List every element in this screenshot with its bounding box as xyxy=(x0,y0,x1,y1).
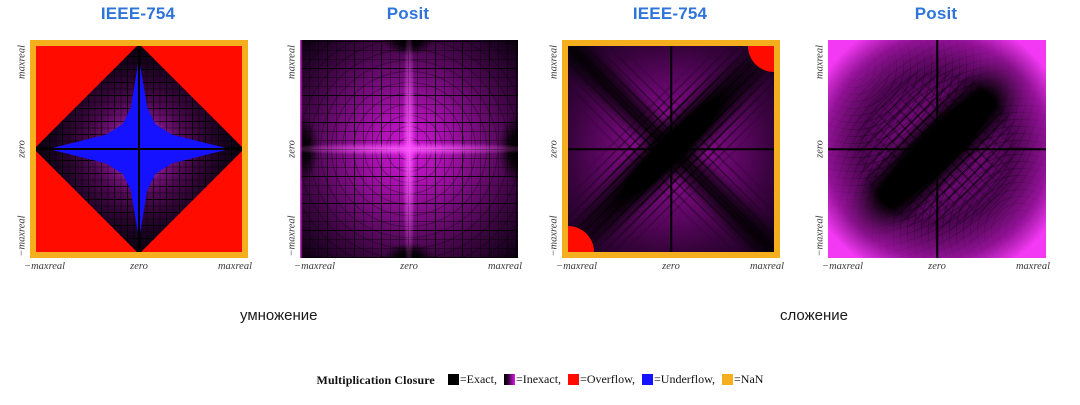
x-axis-labels: −maxreal zero maxreal xyxy=(30,261,248,277)
y-axis-labels: maxreal zero −maxreal xyxy=(14,40,30,258)
legend-label: =NaN xyxy=(734,372,763,387)
legend-item: =Underflow, xyxy=(642,372,715,387)
panel-posit-addition: Posit maxreal zero −maxreal −maxreal zer… xyxy=(806,0,1066,285)
x-tick-zero: zero xyxy=(662,261,680,272)
y-tick-maxreal: maxreal xyxy=(815,45,826,79)
x-tick-maxreal: maxreal xyxy=(1016,261,1050,272)
exact-axis-horizontal xyxy=(36,148,242,150)
y-tick-zero: zero xyxy=(549,140,560,158)
x-tick-negmaxreal: −maxreal xyxy=(556,261,597,272)
y-tick-zero: zero xyxy=(815,140,826,158)
legend-swatch-icon xyxy=(642,374,653,385)
plot-area[interactable] xyxy=(300,40,518,258)
x-tick-negmaxreal: −maxreal xyxy=(24,261,65,272)
legend-swatch-icon xyxy=(568,374,579,385)
y-axis-labels: maxreal zero −maxreal xyxy=(546,40,562,258)
x-tick-negmaxreal: −maxreal xyxy=(294,261,335,272)
plot-canvas xyxy=(300,40,518,258)
panel-title: Posit xyxy=(806,4,1066,24)
y-tick-maxreal: maxreal xyxy=(17,45,28,79)
x-tick-maxreal: maxreal xyxy=(218,261,252,272)
legend-items: =Exact,=Inexact,=Overflow,=Underflow,=Na… xyxy=(448,372,764,389)
y-tick-maxreal: maxreal xyxy=(287,45,298,79)
panel-title: Posit xyxy=(278,4,538,24)
plot-area[interactable] xyxy=(562,40,780,258)
legend-title: Multiplication Closure xyxy=(317,373,435,388)
y-axis-labels: maxreal zero −maxreal xyxy=(284,40,300,258)
legend-swatch-icon xyxy=(722,374,733,385)
x-tick-negmaxreal: −maxreal xyxy=(822,261,863,272)
legend-item: =Exact, xyxy=(448,372,497,387)
x-tick-zero: zero xyxy=(928,261,946,272)
closure-plot-row: IEEE-754 maxreal zero −maxreal −maxreal … xyxy=(0,0,1080,285)
x-axis-labels: −maxreal zero maxreal xyxy=(562,261,780,277)
panel-ieee754-multiplication: IEEE-754 maxreal zero −maxreal −maxreal … xyxy=(8,0,268,285)
plot-canvas xyxy=(568,46,774,252)
plot-area[interactable] xyxy=(828,40,1046,258)
y-tick-negmaxreal: −maxreal xyxy=(287,215,298,256)
legend: Multiplication Closure =Exact,=Inexact,=… xyxy=(0,371,1080,389)
y-tick-negmaxreal: −maxreal xyxy=(17,215,28,256)
y-tick-negmaxreal: −maxreal xyxy=(549,215,560,256)
y-tick-negmaxreal: −maxreal xyxy=(815,215,826,256)
plot-area[interactable] xyxy=(30,40,248,258)
inexact-axis-glow xyxy=(300,40,518,258)
x-tick-zero: zero xyxy=(400,261,418,272)
legend-label: =Overflow, xyxy=(580,372,635,387)
x-tick-maxreal: maxreal xyxy=(750,261,784,272)
panel-title: IEEE-754 xyxy=(8,4,268,24)
plot-canvas xyxy=(828,40,1046,258)
legend-swatch-icon xyxy=(448,374,459,385)
legend-label: =Exact, xyxy=(460,372,497,387)
legend-item: =Inexact, xyxy=(504,372,561,387)
exact-axis-horizontal xyxy=(828,148,1046,150)
y-axis-labels: maxreal zero −maxreal xyxy=(812,40,828,258)
exact-axis-horizontal xyxy=(568,148,774,150)
panel-posit-multiplication: Posit maxreal zero −maxreal −maxreal zer… xyxy=(278,0,538,285)
legend-label: =Inexact, xyxy=(516,372,561,387)
legend-label: =Underflow, xyxy=(654,372,715,387)
x-tick-zero: zero xyxy=(130,261,148,272)
legend-item: =NaN xyxy=(722,372,763,387)
y-tick-zero: zero xyxy=(17,140,28,158)
panel-ieee754-addition: IEEE-754 maxreal zero −maxreal −maxreal … xyxy=(540,0,800,285)
caption-addition: сложение xyxy=(780,307,848,324)
panel-title: IEEE-754 xyxy=(540,4,800,24)
x-axis-labels: −maxreal zero maxreal xyxy=(828,261,1046,277)
caption-multiplication: умножение xyxy=(240,307,317,324)
y-tick-maxreal: maxreal xyxy=(549,45,560,79)
x-tick-maxreal: maxreal xyxy=(488,261,522,272)
legend-item: =Overflow, xyxy=(568,372,635,387)
legend-swatch-icon xyxy=(504,374,515,385)
y-tick-zero: zero xyxy=(287,140,298,158)
plot-canvas xyxy=(36,46,242,252)
x-axis-labels: −maxreal zero maxreal xyxy=(300,261,518,277)
